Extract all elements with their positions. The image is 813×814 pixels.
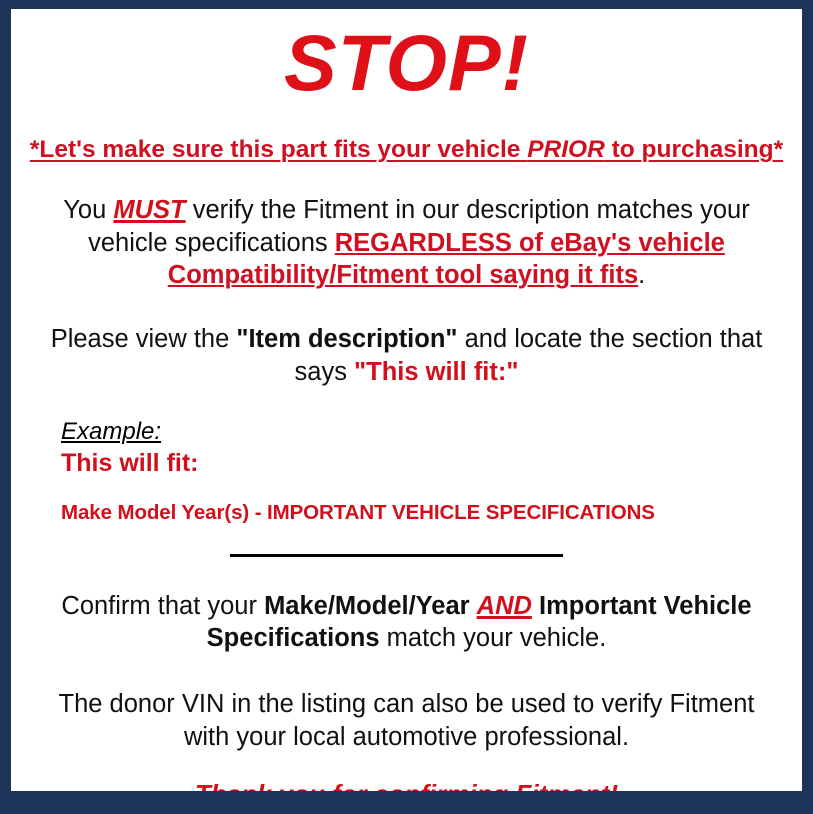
- notice-content-area: STOP! *Let's make sure this part fits yo…: [11, 9, 802, 791]
- view-lead-text: Please view the: [51, 325, 237, 353]
- paragraph-donor-vin: The donor VIN in the listing can also be…: [17, 688, 796, 753]
- example-label: Example:: [61, 419, 796, 446]
- subheadline-text-part1: *Let's make sure this part fits your veh…: [30, 136, 527, 163]
- must-tail-text: .: [638, 261, 645, 289]
- divider-wrap: [17, 548, 796, 564]
- this-will-fit-quote: "This will fit:": [354, 358, 518, 386]
- must-lead-text: You: [63, 196, 113, 224]
- closing-thank-you: Thank you for confirming Fitment!: [17, 779, 796, 791]
- subheadline-emphasis-prior: PRIOR: [527, 136, 605, 163]
- item-description-emphasis: "Item description": [236, 325, 457, 353]
- paragraph-confirm: Confirm that your Make/Model/Year AND Im…: [17, 590, 796, 655]
- horizontal-divider: [230, 554, 563, 557]
- page-title: STOP!: [17, 23, 796, 102]
- subheadline-text-part2: to purchasing*: [605, 136, 783, 163]
- fitment-notice-banner: STOP! *Let's make sure this part fits yo…: [0, 0, 813, 814]
- example-spec-line: Make Model Year(s) - IMPORTANT VEHICLE S…: [61, 501, 796, 526]
- paragraph-must-verify: You MUST verify the Fitment in our descr…: [17, 194, 796, 291]
- make-model-year-emphasis: Make/Model/Year: [264, 592, 470, 620]
- must-emphasis: MUST: [113, 196, 185, 224]
- example-fit-heading: This will fit:: [61, 448, 796, 478]
- and-emphasis: AND: [477, 592, 532, 620]
- confirm-tail-text: match your vehicle.: [380, 624, 607, 652]
- example-block: Example: This will fit: Make Model Year(…: [17, 419, 796, 525]
- confirm-lead-text: Confirm that your: [61, 592, 264, 620]
- paragraph-item-description: Please view the "Item description" and l…: [17, 323, 796, 388]
- subheadline: *Let's make sure this part fits your veh…: [17, 136, 796, 164]
